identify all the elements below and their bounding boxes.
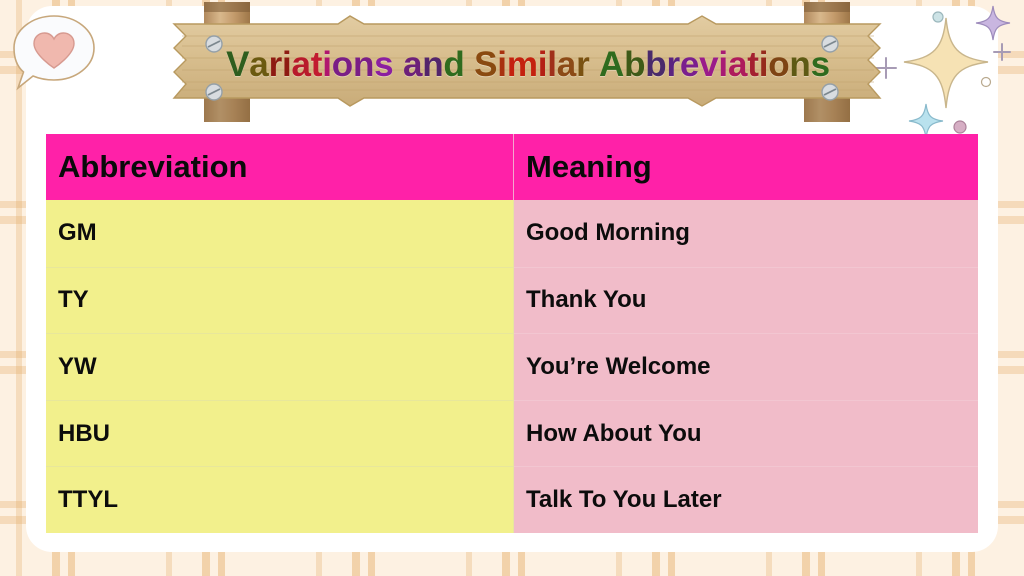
title-letter: r (576, 45, 589, 85)
table-row: GMGood Morning (46, 200, 978, 267)
title-letter: a (557, 45, 576, 85)
title-letter: a (249, 45, 268, 85)
title-letter: i (282, 45, 292, 85)
title-letter (393, 45, 403, 85)
title-letter: S (474, 45, 497, 85)
title-letter (465, 45, 475, 85)
table-row: TTYLTalk To You Later (46, 466, 978, 533)
title-letter: n (422, 45, 443, 85)
cell-abbreviation: GM (46, 200, 514, 267)
cell-meaning: Thank You (514, 267, 978, 334)
table-body: GMGood MorningTYThank YouYWYou’re Welcom… (46, 200, 978, 533)
cell-meaning: Talk To You Later (514, 466, 978, 533)
cell-abbreviation: TY (46, 267, 514, 334)
heart-speech-bubble-icon (6, 8, 102, 104)
title-letter: o (768, 45, 789, 85)
table-row: HBUHow About You (46, 400, 978, 467)
column-header-abbreviation: Abbreviation (46, 134, 514, 200)
title-letter (589, 45, 599, 85)
table-row: TYThank You (46, 267, 978, 334)
cell-abbreviation: TTYL (46, 466, 514, 533)
title-letter: i (759, 45, 769, 85)
title-letter: i (718, 45, 728, 85)
title-letter: d (443, 45, 464, 85)
title-letter: V (226, 45, 249, 85)
table-row: YWYou’re Welcome (46, 333, 978, 400)
sparkle-cluster-icon (874, 0, 1024, 140)
wooden-signboard: Variations and Similar Abbreviations (168, 2, 888, 122)
cell-meaning: Good Morning (514, 200, 978, 267)
table-header-row: Abbreviation Meaning (46, 134, 978, 200)
cell-abbreviation: YW (46, 333, 514, 400)
title-letter: t (747, 45, 758, 85)
title-letter: r (666, 45, 679, 85)
cell-meaning: How About You (514, 400, 978, 467)
title-letter: v (699, 45, 718, 85)
title-letter: n (789, 45, 810, 85)
title-letter: s (811, 45, 830, 85)
title-letter: m (507, 45, 538, 85)
title-letter: b (645, 45, 666, 85)
title-letter: l (547, 45, 557, 85)
title-letter: A (599, 45, 624, 85)
page-title: Variations and Similar Abbreviations (168, 2, 888, 122)
title-letter: s (374, 45, 393, 85)
abbreviations-table: Abbreviation Meaning GMGood MorningTYTha… (46, 134, 978, 533)
title-letter: e (680, 45, 699, 85)
slide-canvas: Variations and Similar Abbreviations Abb… (0, 0, 1024, 576)
title-letter: o (332, 45, 353, 85)
title-letter: r (269, 45, 282, 85)
title-letter: i (322, 45, 332, 85)
cell-abbreviation: HBU (46, 400, 514, 467)
title-letter: a (292, 45, 311, 85)
title-letter: i (497, 45, 507, 85)
column-header-meaning: Meaning (514, 134, 978, 200)
cell-meaning: You’re Welcome (514, 333, 978, 400)
title-letter: t (311, 45, 322, 85)
title-letter: a (728, 45, 747, 85)
title-letter: a (403, 45, 422, 85)
title-letter: n (353, 45, 374, 85)
title-letter: i (538, 45, 548, 85)
title-letter: b (624, 45, 645, 85)
